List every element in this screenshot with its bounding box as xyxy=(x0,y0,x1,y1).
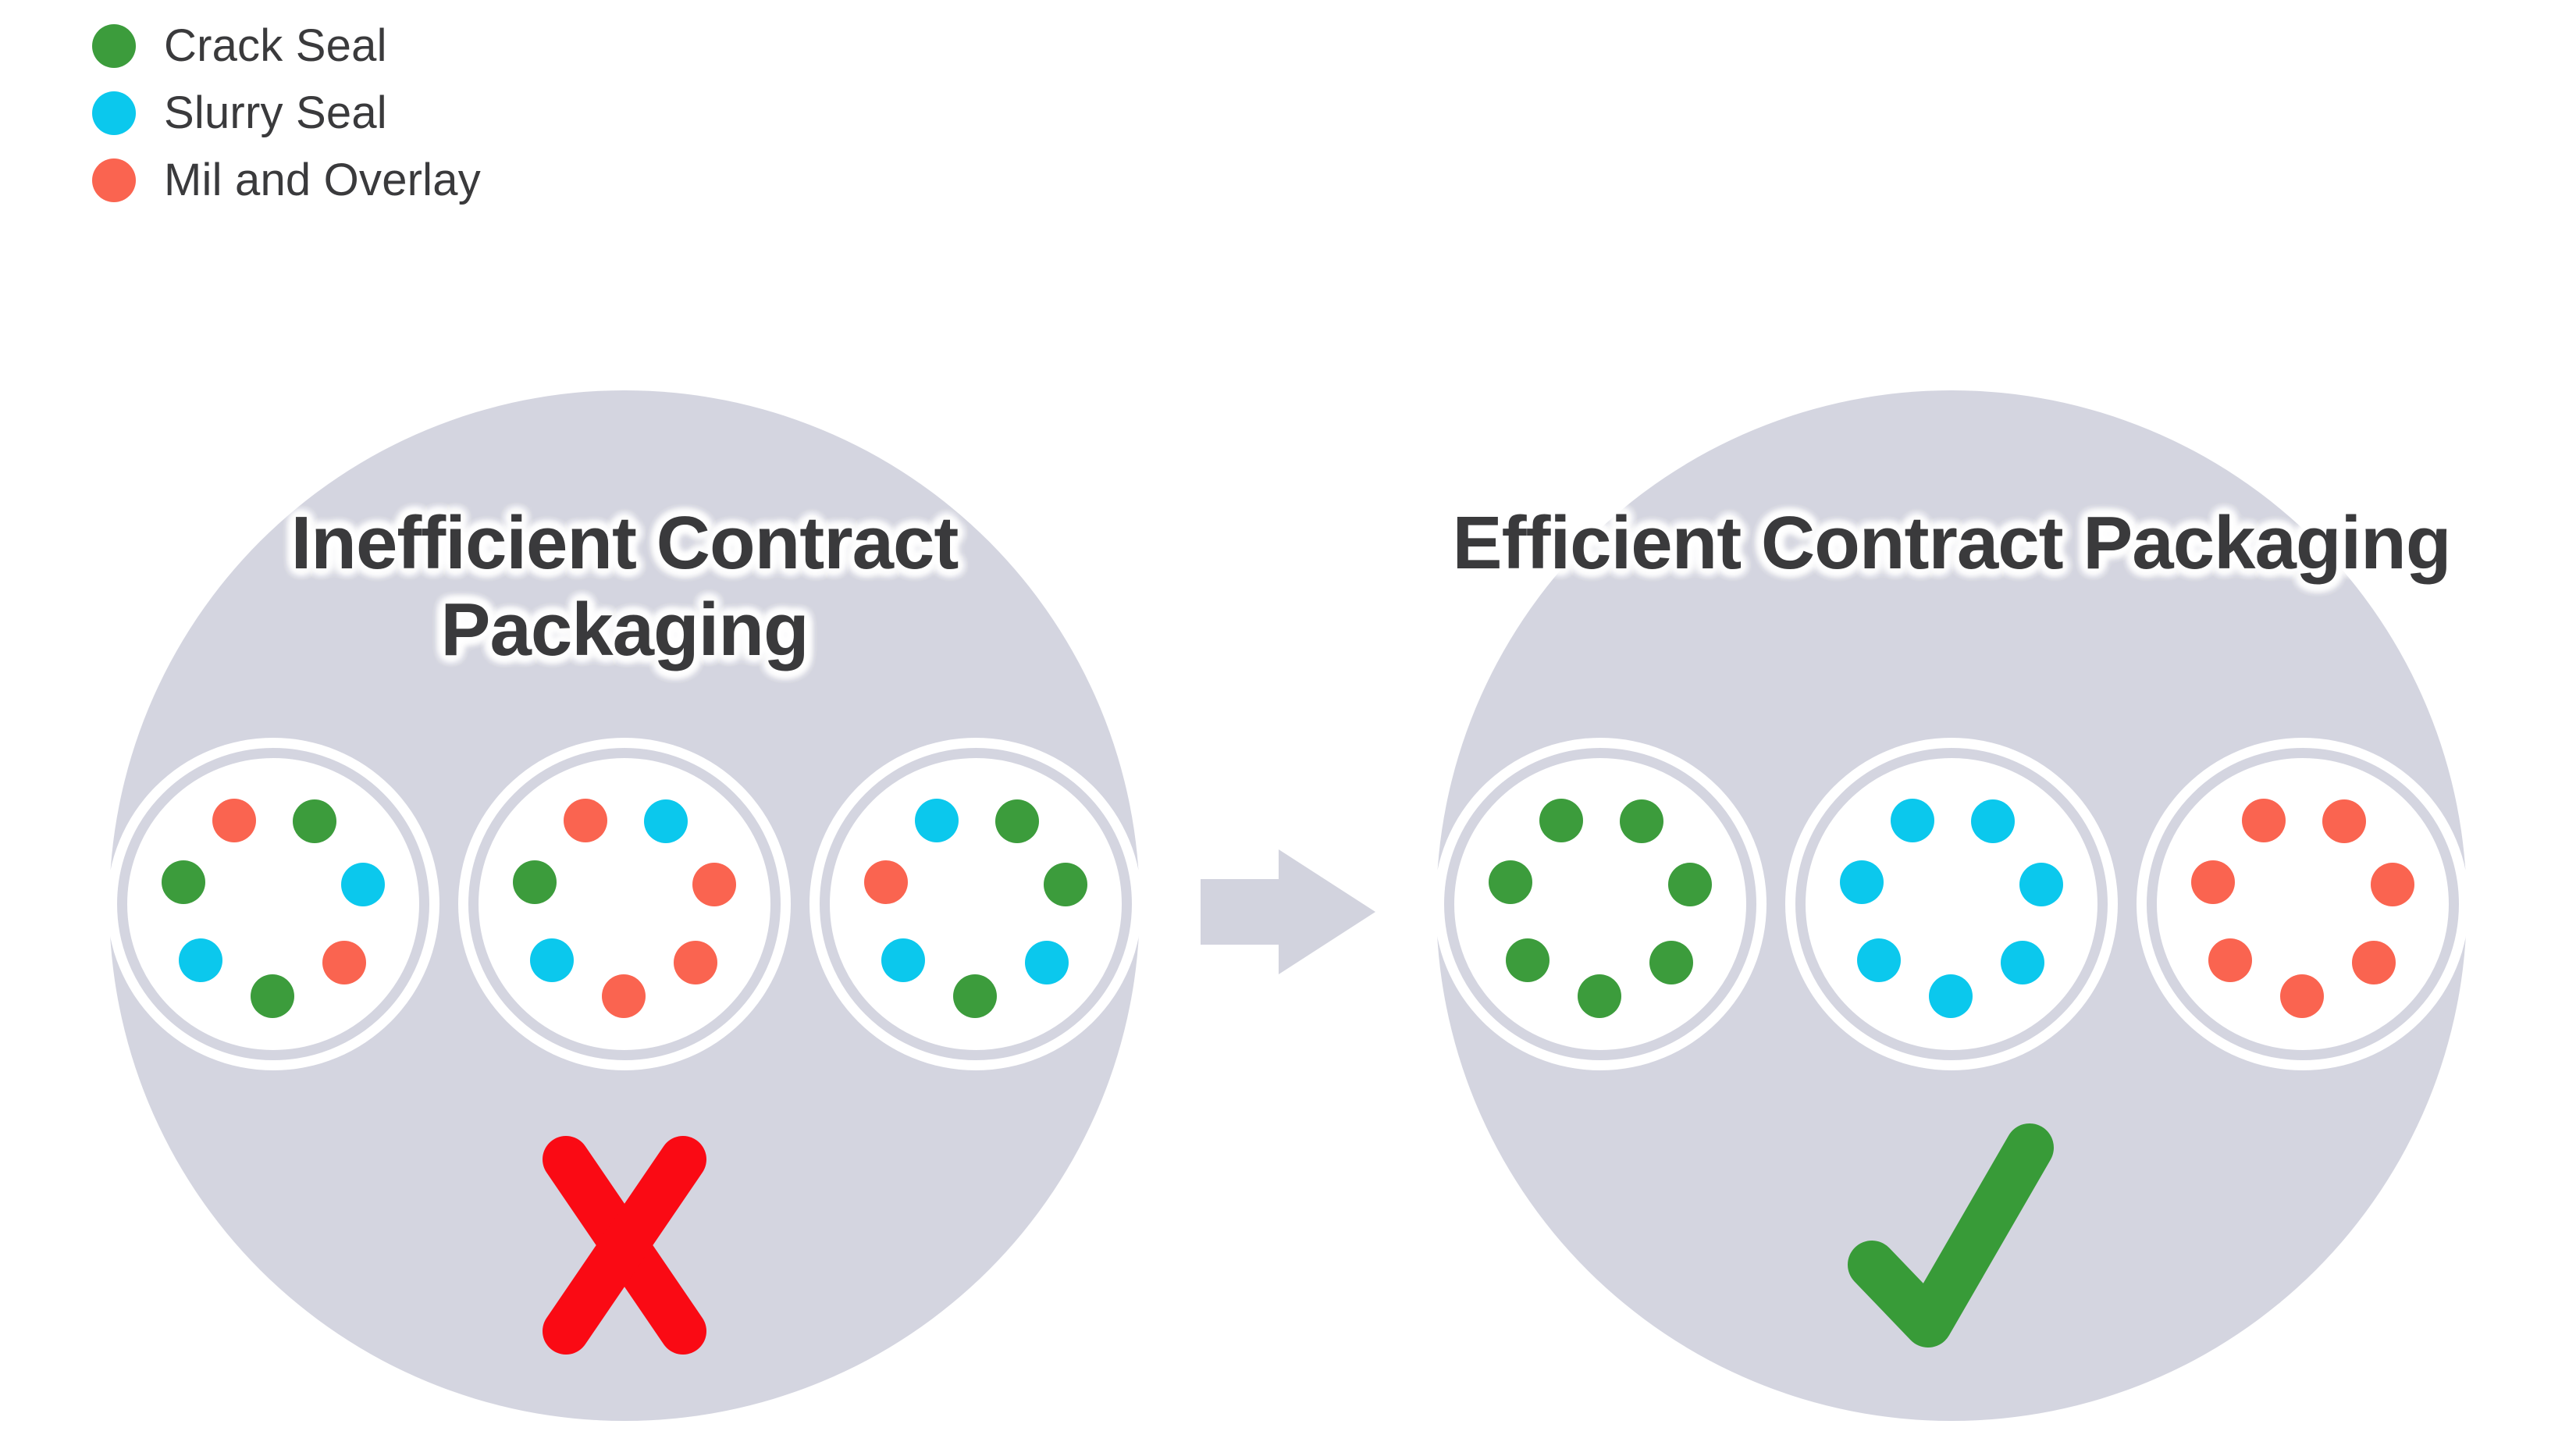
check-mark-icon xyxy=(1694,1116,2209,1374)
cluster-efficient-2 xyxy=(2147,748,2459,1060)
panel-title: Efficient Contract Packaging xyxy=(1436,500,2467,586)
treatment-dot-slurry-seal xyxy=(2001,941,2044,984)
treatment-dot-slurry-seal xyxy=(530,938,574,982)
treatment-dot-crack-seal xyxy=(1489,860,1532,904)
treatment-dot-crack-seal xyxy=(1044,863,1087,906)
cluster-efficient-0 xyxy=(1444,748,1756,1060)
treatment-dot-mil-and-overlay xyxy=(2242,799,2286,842)
treatment-dot-slurry-seal xyxy=(341,863,385,906)
verdict-cross xyxy=(367,1116,882,1374)
treatment-dot-mil-and-overlay xyxy=(2352,941,2396,984)
cluster-inefficient-1 xyxy=(468,748,781,1060)
treatment-dot-crack-seal xyxy=(1668,863,1712,906)
diagram-stage: Inefficient Contract Packaging Efficient… xyxy=(0,0,2576,1449)
treatment-dot-mil-and-overlay xyxy=(602,974,646,1018)
treatment-dot-crack-seal xyxy=(995,799,1039,843)
treatment-dot-crack-seal xyxy=(513,860,557,904)
treatment-dot-crack-seal xyxy=(1539,799,1583,842)
treatment-dot-slurry-seal xyxy=(1891,799,1934,842)
cluster-row xyxy=(1436,748,2467,1060)
flow-arrow xyxy=(1201,842,1375,982)
treatment-dot-mil-and-overlay xyxy=(2191,860,2235,904)
treatment-dot-crack-seal xyxy=(1620,799,1663,843)
treatment-dot-slurry-seal xyxy=(644,799,688,843)
treatment-dot-crack-seal xyxy=(251,974,294,1018)
treatment-dot-slurry-seal xyxy=(1857,938,1901,982)
cross-mark-icon xyxy=(367,1116,882,1374)
treatment-dot-crack-seal xyxy=(1649,941,1693,984)
arrow-right-icon xyxy=(1201,842,1375,982)
treatment-dot-mil-and-overlay xyxy=(2280,974,2324,1018)
treatment-dot-crack-seal xyxy=(293,799,336,843)
verdict-check xyxy=(1694,1116,2209,1374)
cluster-efficient-1 xyxy=(1795,748,2108,1060)
treatment-dot-mil-and-overlay xyxy=(864,860,908,904)
treatment-dot-mil-and-overlay xyxy=(564,799,607,842)
treatment-dot-mil-and-overlay xyxy=(2322,799,2366,843)
treatment-dot-slurry-seal xyxy=(1840,860,1884,904)
treatment-dot-crack-seal xyxy=(1506,938,1550,982)
treatment-dot-slurry-seal xyxy=(1929,974,1973,1018)
treatment-dot-slurry-seal xyxy=(881,938,925,982)
treatment-dot-crack-seal xyxy=(953,974,997,1018)
treatment-dot-slurry-seal xyxy=(2019,863,2063,906)
treatment-dot-slurry-seal xyxy=(179,938,222,982)
panel-efficient: Efficient Contract Packaging xyxy=(1436,390,2467,1421)
treatment-dot-mil-and-overlay xyxy=(322,941,366,984)
treatment-dot-mil-and-overlay xyxy=(2208,938,2252,982)
cluster-inefficient-2 xyxy=(820,748,1132,1060)
treatment-dot-mil-and-overlay xyxy=(2371,863,2414,906)
cluster-inefficient-0 xyxy=(117,748,429,1060)
cluster-row xyxy=(109,748,1140,1060)
treatment-dot-slurry-seal xyxy=(1971,799,2015,843)
treatment-dot-mil-and-overlay xyxy=(692,863,736,906)
panel-title: Inefficient Contract Packaging xyxy=(109,500,1140,674)
panel-inefficient: Inefficient Contract Packaging xyxy=(109,390,1140,1421)
treatment-dot-mil-and-overlay xyxy=(674,941,717,984)
treatment-dot-slurry-seal xyxy=(1025,941,1069,984)
treatment-dot-crack-seal xyxy=(1578,974,1621,1018)
treatment-dot-slurry-seal xyxy=(915,799,959,842)
treatment-dot-crack-seal xyxy=(162,860,205,904)
treatment-dot-mil-and-overlay xyxy=(212,799,256,842)
